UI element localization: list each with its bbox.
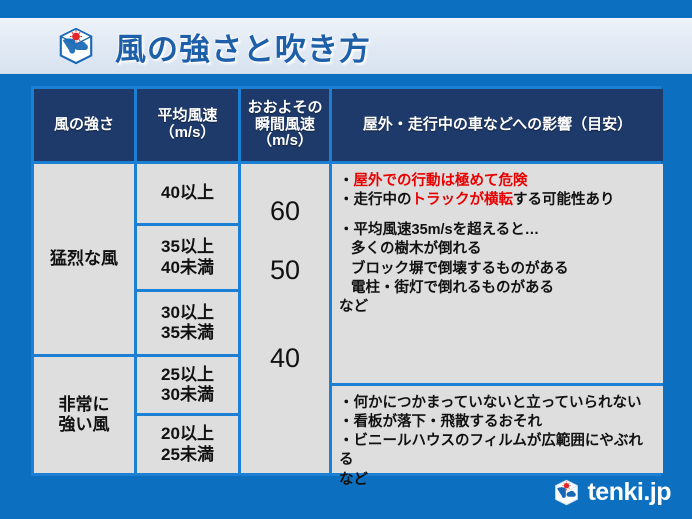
effects-cell-violent: ・屋外での行動は極めて危険 ・走行中のトラックが横転する可能性あり ・平均風速3… bbox=[332, 164, 663, 383]
effect-truck-text-b: する可能性あり bbox=[513, 192, 615, 208]
effect-truck-text-a: 走行中の bbox=[354, 192, 412, 208]
column-header-effects-label: 屋外・走行中の車などへの影響（目安） bbox=[363, 117, 632, 134]
effect-sub-poles-lights: 電柱・街灯で倒れるものがある bbox=[339, 279, 657, 298]
wind-class-very-strong-line2: 強い風 bbox=[59, 415, 110, 435]
effect-outdoor-danger-text: 屋外での行動は極めて危険 bbox=[354, 173, 528, 189]
tenki-cube-icon bbox=[57, 27, 95, 65]
mean-speed-20-line2: 25未満 bbox=[161, 445, 214, 465]
effect-item-over-35ms: ・平均風速35m/sを超えると… bbox=[339, 221, 657, 240]
column-header-wind-strength-label: 風の強さ bbox=[54, 117, 114, 134]
effect-sub-block-walls: ブロック塀で倒壊するものがある bbox=[339, 260, 657, 279]
table-body: 猛烈な風 非常に 強い風 40以上 35以上 40未満 bbox=[34, 164, 658, 473]
column-header-gust-speed: おおよその 瞬間風速 （m/s） bbox=[241, 89, 329, 161]
effect-item-greenhouse-film: ・ビニールハウスのフィルムが広範囲にやぶれる bbox=[339, 432, 657, 470]
mean-speed-35-line2: 40未満 bbox=[161, 258, 214, 278]
column-header-wind-strength: 風の強さ bbox=[34, 89, 134, 161]
wind-class-column: 猛烈な風 非常に 強い風 bbox=[34, 164, 134, 473]
gust-speed-column: 60 50 40 bbox=[241, 164, 329, 473]
mean-speed-row-30: 30以上 35未満 bbox=[137, 292, 238, 354]
mean-speed-row-35: 35以上 40未満 bbox=[137, 226, 238, 289]
column-header-effects: 屋外・走行中の車などへの影響（目安） bbox=[332, 89, 663, 161]
gust-speed-60: 60 bbox=[270, 196, 300, 227]
bullet-prefix: ・ bbox=[339, 192, 354, 208]
gust-speed-40: 40 bbox=[270, 343, 300, 374]
tenki-brand-logo[interactable]: tenki.jp bbox=[553, 479, 671, 506]
wind-class-very-strong: 非常に 強い風 bbox=[34, 357, 134, 473]
column-header-mean-wind-speed: 平均風速 （m/s） bbox=[137, 89, 238, 161]
effects-column: ・屋外での行動は極めて危険 ・走行中のトラックが横転する可能性あり ・平均風速3… bbox=[332, 164, 663, 473]
effects-cell-very-strong: ・何かにつかまっていないと立っていられない ・看板が落下・飛散するおそれ ・ビニ… bbox=[332, 386, 663, 473]
effect-item-truck-rollover: ・走行中のトラックが横転する可能性あり bbox=[339, 191, 657, 210]
effect-truck-rollover-text: トラックが横転 bbox=[412, 192, 514, 208]
column-header-mean-line1: 平均風速 bbox=[157, 108, 217, 125]
mean-speed-20-line1: 20以上 bbox=[161, 424, 214, 444]
column-header-gust-line1: おおよその bbox=[247, 100, 322, 117]
table-header-row: 風の強さ 平均風速 （m/s） おおよその 瞬間風速 （m/s） 屋外・走行中の… bbox=[34, 89, 658, 161]
wind-class-very-strong-line1: 非常に bbox=[59, 395, 110, 415]
mean-speed-row-40: 40以上 bbox=[137, 164, 238, 223]
column-header-gust-line2: 瞬間風速 bbox=[247, 117, 322, 134]
effect-item-outdoor-danger: ・屋外での行動は極めて危険 bbox=[339, 172, 657, 191]
bullet-prefix: ・ bbox=[339, 173, 354, 189]
page-title: 風の強さと吹き方 bbox=[115, 24, 371, 69]
mean-speed-40-line1: 40以上 bbox=[161, 183, 214, 203]
effect-item-signboards: ・看板が落下・飛散するおそれ bbox=[339, 413, 657, 432]
mean-speed-row-20: 20以上 25未満 bbox=[137, 416, 238, 473]
mean-speed-25-line1: 25以上 bbox=[161, 365, 214, 385]
mean-speed-35-line1: 35以上 bbox=[161, 237, 214, 257]
effect-sub-trees: 多くの樹木が倒れる bbox=[339, 240, 657, 259]
mean-speed-column: 40以上 35以上 40未満 30以上 35未満 25以上 30 bbox=[137, 164, 238, 473]
column-header-mean-line2: （m/s） bbox=[157, 125, 217, 142]
mean-speed-30-line2: 35未満 bbox=[161, 323, 214, 343]
title-band: 風の強さと吹き方 bbox=[0, 18, 692, 74]
mean-speed-25-line2: 30未満 bbox=[161, 385, 214, 405]
column-header-gust-line3: （m/s） bbox=[247, 133, 322, 150]
gust-speed-50: 50 bbox=[270, 255, 300, 286]
tenki-brand-text: tenki.jp bbox=[587, 480, 671, 505]
tenki-cube-icon bbox=[553, 479, 580, 506]
effect-item-cannot-stand: ・何かにつかまっていないと立っていられない bbox=[339, 394, 657, 413]
mean-speed-row-25: 25以上 30未満 bbox=[137, 357, 238, 413]
gust-speed-merged-cell: 60 50 40 bbox=[241, 164, 329, 473]
wind-class-violent-label: 猛烈な風 bbox=[50, 249, 118, 269]
wind-class-violent: 猛烈な風 bbox=[34, 164, 134, 354]
wind-strength-table: 風の強さ 平均風速 （m/s） おおよその 瞬間風速 （m/s） 屋外・走行中の… bbox=[31, 86, 661, 476]
spacer bbox=[339, 210, 657, 221]
mean-speed-30-line1: 30以上 bbox=[161, 303, 214, 323]
effect-item-etc: など bbox=[339, 298, 657, 317]
